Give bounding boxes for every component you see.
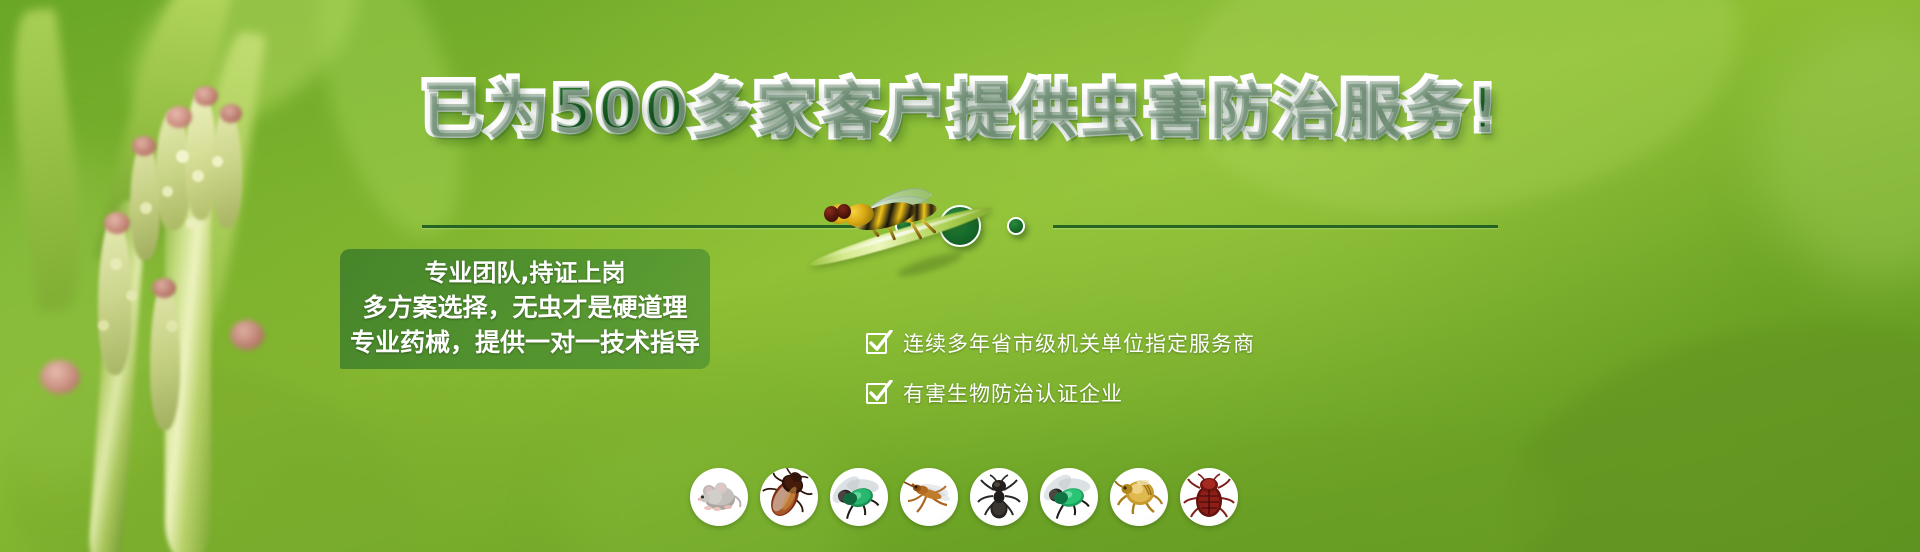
checklist-item-label: 有害生物防治认证企业 xyxy=(903,378,1123,408)
page-title-text: 已为500多家客户提供虫害防治服务! xyxy=(420,72,1500,145)
feature-highlight-panel: 专业团队,持证上岗 多方案选择，无虫才是硬道理 专业药械，提供一对一技术指导 xyxy=(340,249,710,369)
housefly-icon xyxy=(1040,468,1098,526)
mosquito-icon xyxy=(900,468,958,526)
feature-line-1: 专业团队,持证上岗 xyxy=(424,261,625,285)
checklist-item: 连续多年省市级机关单位指定服务商 xyxy=(866,328,1255,358)
cockroach-icon xyxy=(760,468,818,526)
checklist-item-label: 连续多年省市级机关单位指定服务商 xyxy=(903,328,1255,358)
promo-banner: 已为500多家客户提供虫害防治服务! 专业团队,持证上岗 多方案选择，无虫才是硬… xyxy=(0,0,1920,552)
bedbug-icon xyxy=(1180,468,1238,526)
hoverfly-on-stem xyxy=(800,195,1030,305)
ant-icon xyxy=(970,468,1028,526)
blowfly-icon xyxy=(830,468,888,526)
fly-eye xyxy=(837,204,851,219)
feature-line-2: 多方案选择，无虫才是硬道理 xyxy=(362,295,687,320)
pest-type-strip xyxy=(690,468,1238,526)
credentials-checklist: 连续多年省市级机关单位指定服务商 有害生物防治认证企业 xyxy=(866,328,1255,408)
divider-line-right xyxy=(1053,225,1498,228)
checkbox-checked-icon xyxy=(866,381,890,405)
mouse-icon xyxy=(690,468,748,526)
checklist-item: 有害生物防治认证企业 xyxy=(866,378,1255,408)
page-title: 已为500多家客户提供虫害防治服务! xyxy=(0,78,1920,140)
fly-shadow xyxy=(896,248,965,280)
feature-line-3: 专业药械，提供一对一技术指导 xyxy=(350,330,700,355)
checkbox-checked-icon xyxy=(866,331,890,355)
flea-icon xyxy=(1110,468,1168,526)
